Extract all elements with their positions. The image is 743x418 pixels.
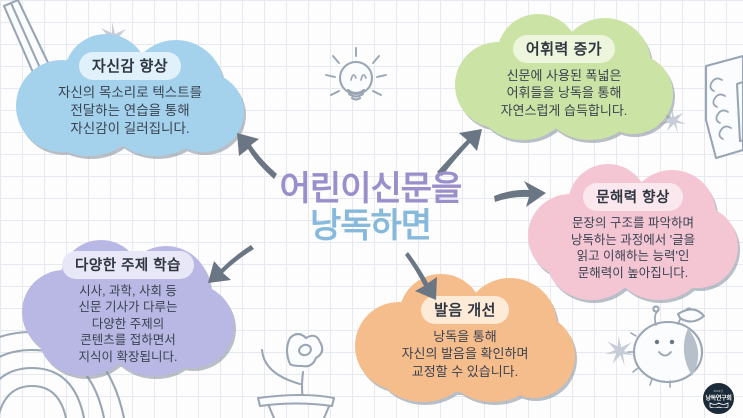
title-line-2: 낭독하면 [310,208,431,245]
title-line-1: 어린이신문을 [280,171,462,208]
logo-badge[interactable]: 2024년 낭독연구회 [702,382,735,415]
badge-title: 낭독연구회 [705,393,731,402]
book-icon [709,402,729,408]
poster-title: 어린이신문을 낭독하면 [243,156,498,260]
arrow-to-literacy-icon [494,181,546,207]
